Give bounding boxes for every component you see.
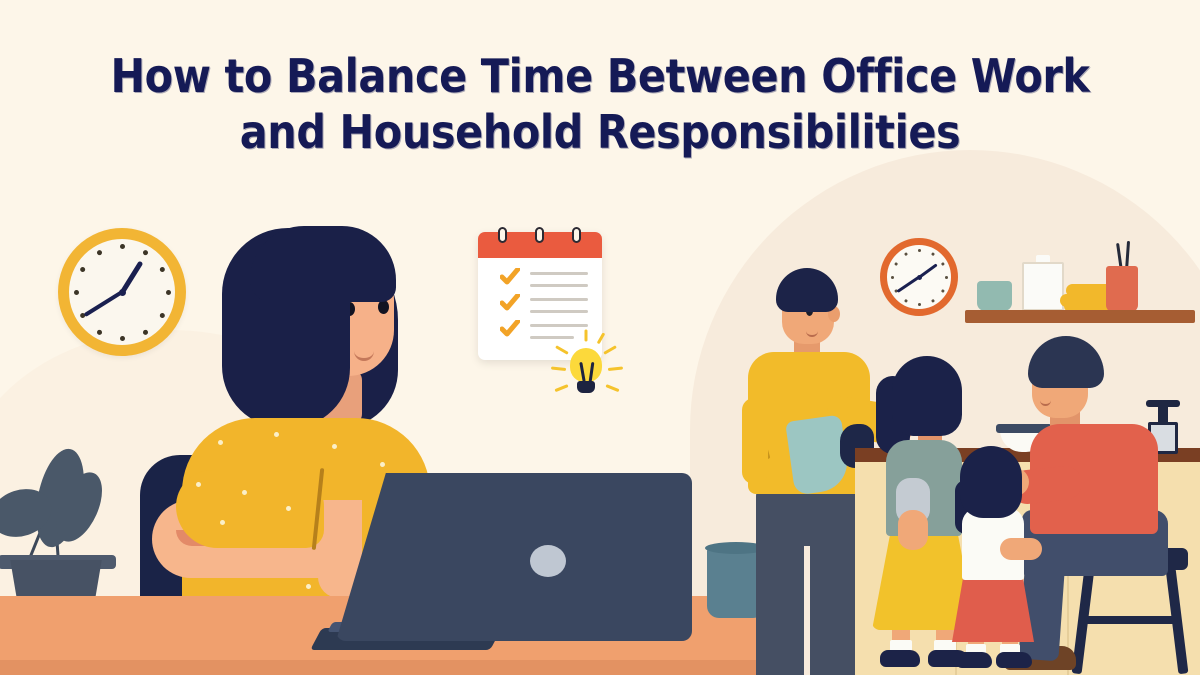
notepad-ring	[498, 227, 507, 243]
wall-clock-orange-icon	[880, 238, 958, 316]
girl2-hair	[960, 446, 1022, 518]
girl1-hair	[892, 356, 962, 436]
girl2-arm	[1000, 538, 1042, 560]
checkmark-icon	[500, 294, 520, 312]
page-title: How to Balance Time Between Office Work …	[0, 48, 1200, 160]
girl1-arm	[898, 510, 928, 550]
checkmark-icon	[500, 320, 520, 338]
woman-sleeve	[176, 470, 324, 548]
shelf-cup	[977, 281, 1012, 311]
checklist-notepad	[478, 232, 602, 360]
utensil-jar	[1106, 266, 1138, 312]
wall-shelf	[965, 310, 1195, 323]
clock-minute-hand	[84, 290, 123, 317]
notepad-ring	[572, 227, 581, 243]
man1-leg-gap	[804, 546, 810, 675]
girl2-shoe	[956, 652, 992, 668]
notepad-line	[530, 324, 588, 327]
notepad-ring	[535, 227, 544, 243]
bulb-base	[577, 381, 595, 393]
clock-face	[887, 245, 951, 309]
notepad-line	[530, 298, 588, 301]
girl1-shoe	[880, 650, 920, 667]
desk-edge	[0, 660, 860, 675]
title-line-1: How to Balance Time Between Office Work	[110, 49, 1089, 103]
notepad-line	[530, 336, 574, 339]
wall-clock-yellow-icon	[58, 228, 186, 356]
clock-face	[69, 239, 175, 345]
title-line-2: and Household Responsibilities	[0, 104, 1200, 160]
notepad-line	[530, 310, 588, 313]
notepad-line	[530, 284, 588, 287]
laptop-lid	[336, 473, 692, 641]
laptop-logo-icon	[530, 545, 566, 577]
banner-canvas: How to Balance Time Between Office Work …	[0, 0, 1200, 675]
notepad-line	[530, 272, 588, 275]
man1-left-arm	[742, 398, 768, 484]
girl2-shoe	[996, 652, 1032, 668]
clock-pivot	[119, 289, 126, 296]
checkmark-icon	[500, 268, 520, 286]
woman-hair-top	[250, 226, 396, 302]
shelf-box	[1022, 262, 1064, 311]
woman-eye	[378, 300, 389, 314]
